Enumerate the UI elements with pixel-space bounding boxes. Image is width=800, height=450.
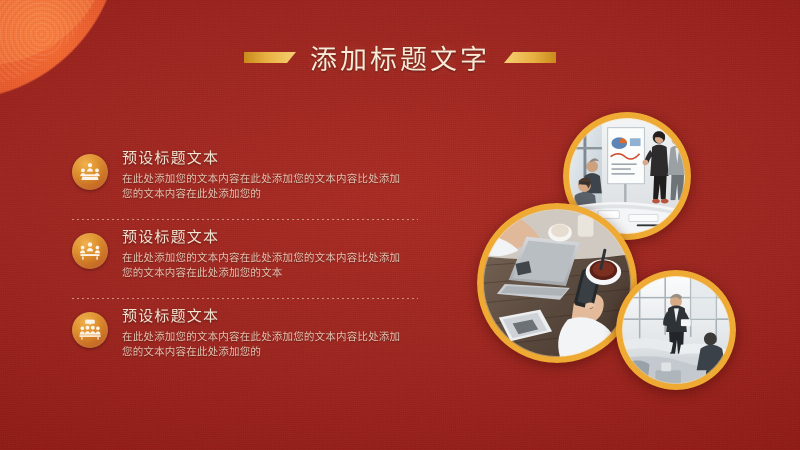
list-item-text: 预设标题文本 在此处添加您的文本内容在此处添加您的文本内容比处添加您的文本内容在… (122, 229, 404, 281)
list-divider (72, 298, 418, 299)
list-item-body: 在此处添加您的文本内容在此处添加您的文本内容比处添加您的文本内容在此处添加您的文… (122, 251, 404, 281)
slide-root: 添加标题文字 (0, 0, 800, 450)
list-item-title: 预设标题文本 (122, 150, 404, 169)
photo-workspace[interactable] (477, 203, 637, 363)
photo-office[interactable] (616, 270, 736, 390)
title-bar-right-icon (504, 52, 556, 63)
title-block: 添加标题文字 (0, 38, 800, 77)
page-title: 添加标题文字 (310, 38, 490, 77)
photo-workspace-ring (477, 203, 637, 363)
feature-list: 预设标题文本 在此处添加您的文本内容在此处添加您的文本内容比处添加您的文本内容在… (72, 146, 412, 371)
presentation-team-icon (72, 233, 108, 269)
list-item[interactable]: 预设标题文本 在此处添加您的文本内容在此处添加您的文本内容比处添加您的文本内容在… (72, 225, 412, 291)
list-item-text: 预设标题文本 在此处添加您的文本内容在此处添加您的文本内容比处添加您的文本内容在… (122, 308, 404, 360)
list-item-title: 预设标题文本 (122, 308, 404, 327)
photo-office-ring (616, 270, 736, 390)
list-item-body: 在此处添加您的文本内容在此处添加您的文本内容比处添加您的文本内容在此处添加您的 (122, 330, 404, 360)
list-item[interactable]: 预设标题文本 在此处添加您的文本内容在此处添加您的文本内容比处添加您的文本内容在… (72, 304, 412, 370)
meeting-table-icon (72, 154, 108, 190)
list-divider (72, 219, 418, 220)
group-discussion-icon (72, 312, 108, 348)
list-item-title: 预设标题文本 (122, 229, 404, 248)
list-item[interactable]: 预设标题文本 在此处添加您的文本内容在此处添加您的文本内容比处添加您的文本内容在… (72, 146, 412, 212)
title-bar-left-icon (244, 52, 296, 63)
list-item-body: 在此处添加您的文本内容在此处添加您的文本内容比处添加您的文本内容在此处添加您的 (122, 172, 404, 202)
list-item-text: 预设标题文本 在此处添加您的文本内容在此处添加您的文本内容比处添加您的文本内容在… (122, 150, 404, 202)
